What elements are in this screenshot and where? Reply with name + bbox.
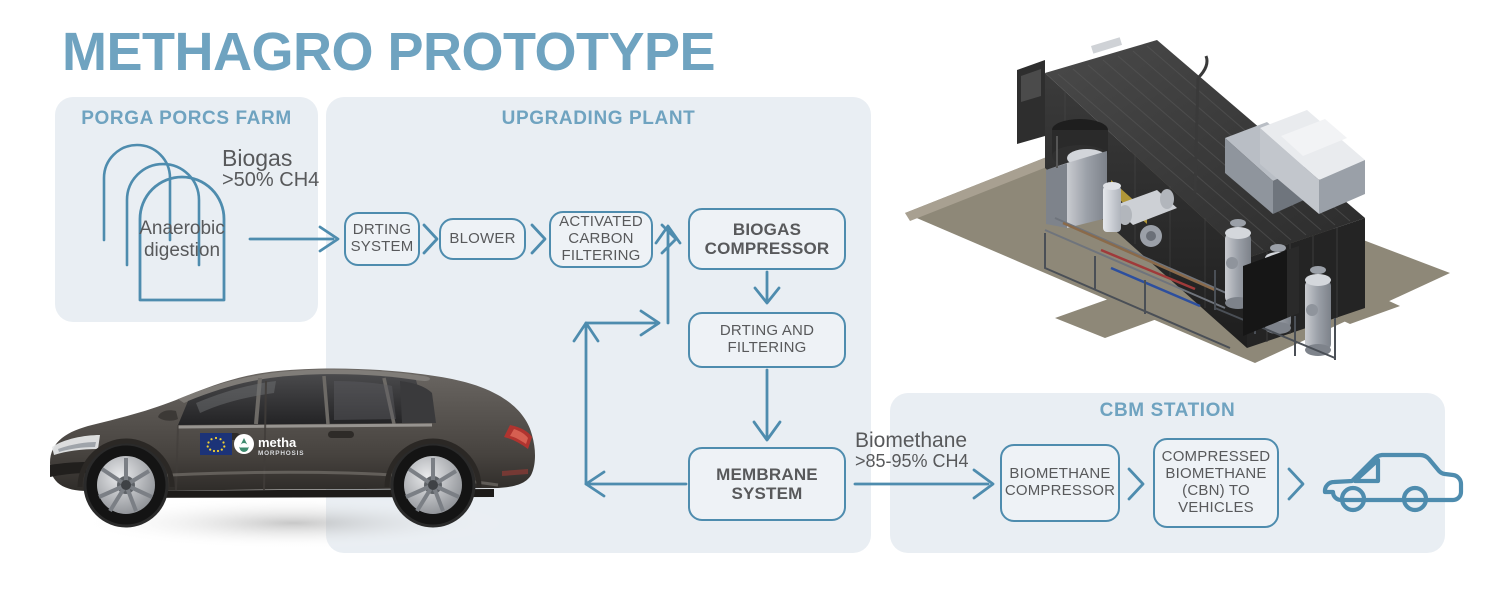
rear-wheel	[391, 443, 475, 527]
box-line-1: DRTING AND	[714, 323, 820, 340]
process-box-drying-and-filtering[interactable]: DRTING AND FILTERING	[688, 312, 846, 368]
panel-porga-porcs-farm	[55, 97, 318, 322]
page-title: METHAGRO PROTOTYPE	[62, 25, 715, 79]
upgrading-panel-title: UPGRADING PLANT	[326, 108, 871, 130]
process-box-compressed-biomethane-to-vehicles[interactable]: COMPRESSED BIOMETHANE (CBN) TO VEHICLES	[1153, 438, 1279, 528]
svg-text:MORPHOSIS: MORPHOSIS	[258, 450, 304, 457]
box-line-1: DRTING	[345, 222, 420, 239]
box-line-2: CARBON	[553, 231, 649, 248]
box-line-4: VEHICLES	[1156, 500, 1277, 517]
box-line-1: BLOWER	[443, 231, 521, 248]
box-line-1: BIOMETHANE	[999, 466, 1121, 483]
process-box-blower[interactable]: BLOWER	[439, 218, 526, 260]
box-line-1: MEMBRANE	[710, 465, 824, 484]
process-box-membrane-system[interactable]: MEMBRANE SYSTEM	[688, 447, 846, 521]
box-line-2: SYSTEM	[710, 484, 824, 503]
metha-logo-decal: metha MORPHOSIS	[234, 434, 304, 457]
box-line-1: COMPRESSED	[1156, 449, 1277, 466]
biomethane-flow-label: Biomethane >85-95% CH4	[855, 430, 969, 471]
process-box-activated-carbon-filtering[interactable]: ACTIVATED CARBON FILTERING	[549, 211, 653, 268]
box-line-1: BIOGAS	[699, 220, 836, 239]
project-car-photo: metha MORPHOSIS	[28, 345, 558, 590]
biomethane-label-line-2: >85-95% CH4	[855, 452, 969, 471]
process-box-biomethane-compressor[interactable]: BIOMETHANE COMPRESSOR	[1000, 444, 1120, 522]
box-line-2: FILTERING	[714, 340, 820, 357]
biomethane-label-line-1: Biomethane	[855, 430, 969, 452]
biogas-flow-label: Biogas >50% CH4	[222, 146, 319, 191]
biogas-label-line-2: >50% CH4	[222, 170, 319, 191]
biogas-label-line-1: Biogas	[222, 146, 319, 170]
box-line-2: BIOMETHANE	[1156, 466, 1277, 483]
front-wheel	[84, 443, 168, 527]
process-box-biogas-compressor[interactable]: BIOGAS COMPRESSOR	[688, 208, 846, 270]
box-line-3: (CBN) TO	[1156, 483, 1277, 500]
eu-flag-icon	[200, 433, 232, 455]
cbm-panel-title: CBM STATION	[890, 400, 1445, 422]
box-line-2: COMPRESSOR	[699, 239, 836, 258]
box-line-1: ACTIVATED	[553, 214, 649, 231]
process-box-drying-system[interactable]: DRTING SYSTEM	[344, 212, 420, 266]
box-line-2: SYSTEM	[345, 239, 420, 256]
box-line-3: FILTERING	[553, 248, 649, 265]
box-line-2: COMPRESSOR	[999, 483, 1121, 500]
infographic-root: METHAGRO PROTOTYPE PORGA PORCS FARM UPGR…	[0, 0, 1500, 605]
farm-panel-title: PORGA PORCS FARM	[55, 108, 318, 130]
svg-text:metha: metha	[258, 435, 297, 450]
plant-3d-render	[895, 18, 1470, 378]
